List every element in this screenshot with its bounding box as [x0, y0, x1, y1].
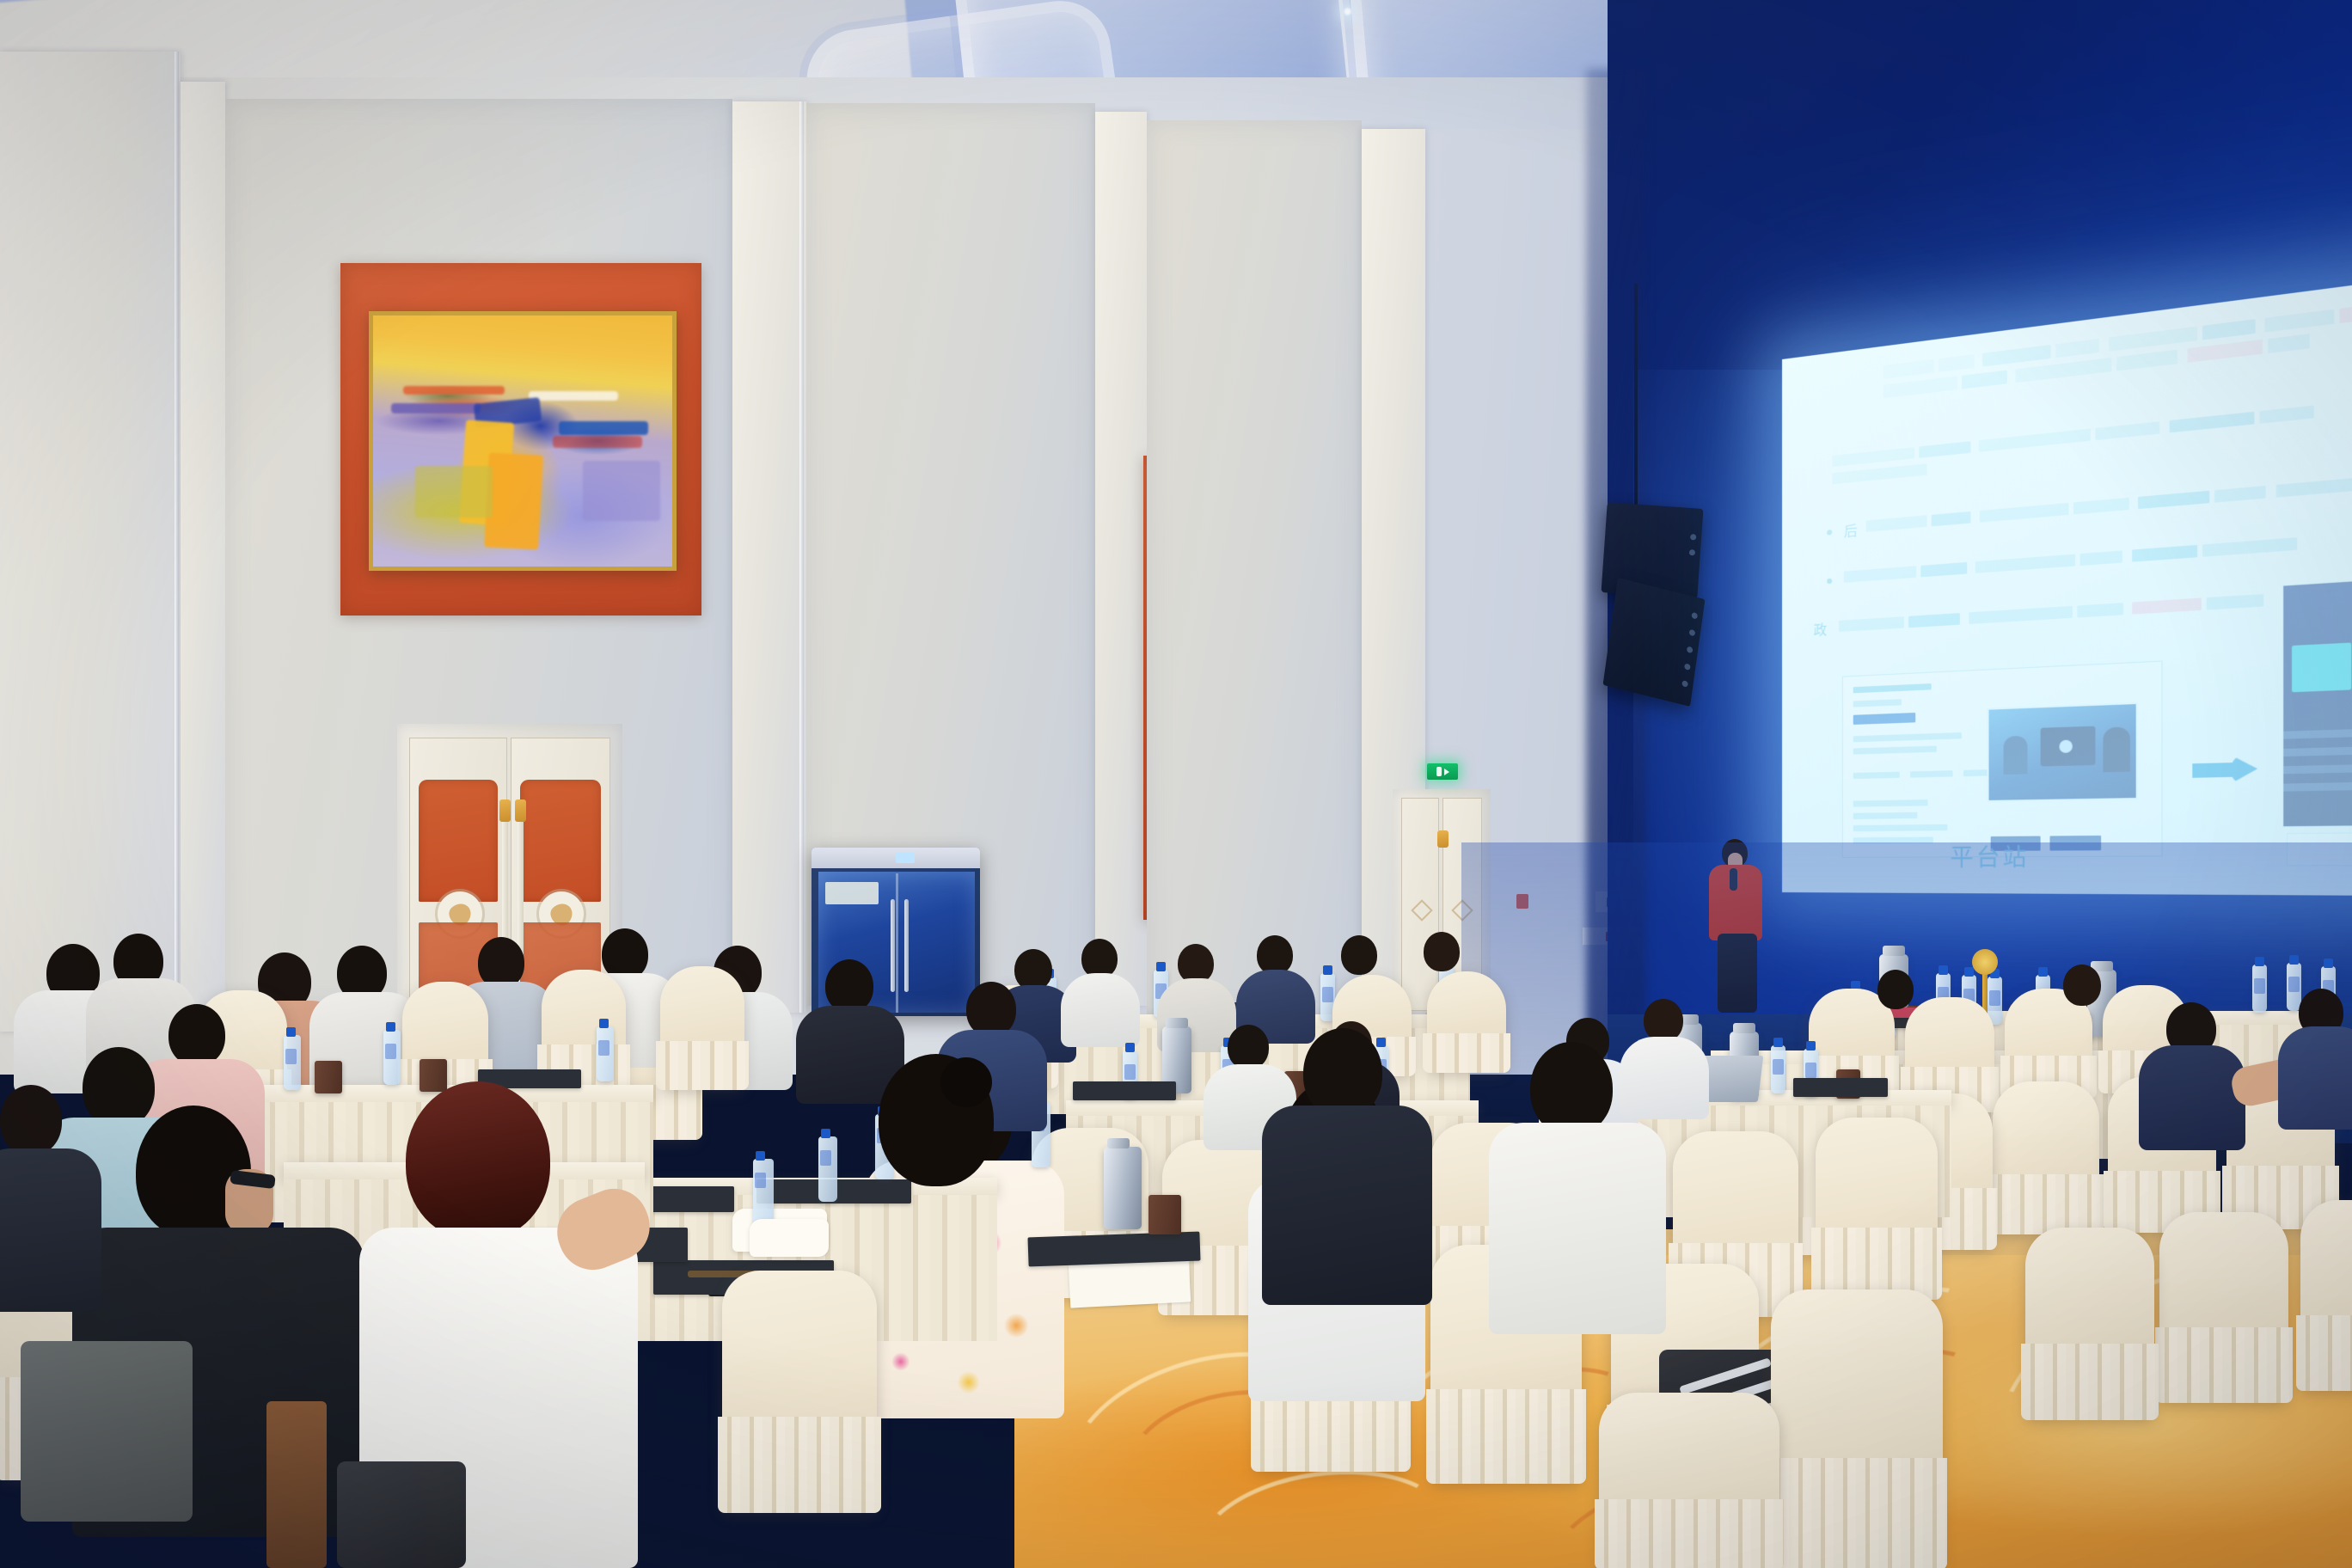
banquet-chair[interactable] [1427, 971, 1506, 1071]
placemat [1073, 1081, 1176, 1100]
attendee-head [1303, 1028, 1382, 1118]
attendee-body [1061, 973, 1140, 1047]
main-door-handle-left[interactable] [502, 818, 508, 956]
slide-bullet-2 [1844, 534, 2340, 587]
water-bottle [1771, 1045, 1785, 1093]
cooler-handle[interactable] [891, 899, 895, 992]
water-bottle [597, 1026, 614, 1081]
placemat [1793, 1078, 1888, 1097]
right-arrow-icon [2192, 754, 2257, 784]
ceiling-downlight [1343, 7, 1352, 16]
water-bottle [383, 1030, 401, 1085]
cooler-display [896, 853, 915, 863]
wall-recess-panel [1147, 120, 1362, 1014]
section-lead-text: 政 [1814, 618, 1828, 640]
attendee-head [1341, 935, 1377, 975]
napkin [750, 1219, 829, 1257]
slide-app-screenshot-footer [2287, 831, 2352, 866]
cooler-handle[interactable] [904, 899, 909, 992]
attendee-head [1530, 1042, 1613, 1135]
attendee-head [83, 1047, 155, 1128]
wall-pilaster [181, 82, 225, 1036]
attendee-head [0, 1085, 62, 1155]
projection-screen: 后 政 [1782, 272, 2352, 896]
card-list-line [1853, 799, 1928, 807]
attendee-body [1262, 1106, 1432, 1305]
bullet-lead-text: 后 [1844, 518, 1858, 541]
hair-bun [940, 1057, 992, 1107]
attendee-body [1489, 1123, 1666, 1334]
pilaster-edge [175, 52, 179, 1032]
presentation-slide: 后 政 [1782, 272, 2352, 896]
slide-bullet-1: 后 [1844, 475, 2352, 539]
attendee-head [1014, 949, 1052, 990]
banquet-chair[interactable] [1816, 1118, 1938, 1298]
handout-paper [1069, 1259, 1191, 1308]
exit-arrow-icon [1444, 769, 1449, 775]
card-detail-line [1853, 732, 1962, 742]
door-panel-plate [419, 780, 498, 902]
attendee-head-foreground [406, 1081, 550, 1240]
banquet-chair[interactable] [1599, 1393, 1779, 1568]
attendee-head [1644, 999, 1683, 1042]
bullet-dot-icon [1827, 579, 1832, 584]
banquet-chair[interactable] [2300, 1200, 2352, 1389]
attendee-head [966, 982, 1016, 1037]
cooler-label [825, 882, 879, 904]
thermos-flask [1104, 1147, 1142, 1229]
attendee-head [1424, 932, 1460, 971]
painting-canvas-landscape [373, 315, 672, 567]
attendee-head [825, 959, 873, 1013]
banquet-chair[interactable] [2159, 1212, 2288, 1401]
painting-frame-landscape [369, 311, 677, 571]
card-action-button-secondary[interactable] [2050, 836, 2102, 851]
attendee-head [1877, 970, 1914, 1009]
card-stat-line [1853, 772, 1900, 779]
main-door-handle-cap [515, 799, 526, 822]
presenter-skirt [1718, 934, 1757, 1013]
slide-section-line: 政 [1814, 589, 2344, 639]
card-price-chip [1853, 713, 1915, 725]
wall-pilaster [0, 52, 181, 1032]
conference-hall-photo: 后 政 [0, 0, 2352, 1568]
water-bottle [2252, 965, 2267, 1013]
attendee-body [0, 1148, 101, 1312]
slide-caption-platform-station: 平台站 [1950, 839, 2029, 873]
speaker-suspension-cable [1634, 284, 1638, 512]
door-panel-plate [520, 780, 601, 902]
backpack [21, 1341, 193, 1522]
tea-mug [420, 1059, 447, 1092]
banquet-chair[interactable] [1993, 1081, 2099, 1233]
attendee-head [168, 1004, 225, 1066]
abstract-landscape-painting [373, 315, 672, 567]
card-photo-thumbnail [1987, 702, 2138, 802]
attendee-body [2278, 1026, 2352, 1130]
attendee-head [478, 937, 524, 989]
card-list-line [1853, 812, 1918, 819]
microphone [1730, 868, 1737, 891]
app-teal-tile [2292, 643, 2351, 693]
cooler-door-divider [896, 873, 898, 1013]
card-subtitle-redacted [1853, 699, 1902, 707]
pilaster-edge [799, 101, 804, 1013]
exit-running-man-icon [1436, 767, 1442, 776]
wall-pilaster [732, 101, 806, 1013]
bullet-dot-icon [1827, 530, 1832, 536]
slide-app-screenshot [2282, 573, 2352, 828]
wall-fire-alarm-plate [1516, 894, 1528, 909]
main-door-handle-cap [499, 799, 511, 822]
attendee-body [1620, 1037, 1709, 1119]
side-door-handle[interactable] [1437, 830, 1449, 848]
attendee-head [602, 928, 648, 980]
attendee-head [2063, 965, 2101, 1006]
tea-mug [315, 1061, 342, 1093]
water-bottle [818, 1136, 837, 1202]
water-bottle [284, 1035, 301, 1090]
water-bottle [2287, 963, 2301, 1011]
card-title-redacted [1853, 683, 1932, 693]
card-list-line [1853, 824, 1948, 831]
placemat [1027, 1232, 1200, 1267]
main-door-handle-right[interactable] [518, 818, 524, 956]
card-stat-line [1910, 770, 1952, 777]
exit-sign [1427, 763, 1458, 780]
line-array-speaker-lower [1602, 578, 1705, 707]
card-detail-line [1853, 746, 1937, 755]
attendee-body [2139, 1045, 2245, 1150]
bag [337, 1461, 466, 1568]
wall-pilaster [1095, 112, 1147, 1006]
card-list-line [1853, 837, 1933, 844]
wooden-chair[interactable] [266, 1401, 327, 1568]
banquet-chair[interactable] [1771, 1289, 1943, 1568]
slide-product-card [1842, 660, 2163, 857]
banquet-chair[interactable] [660, 966, 744, 1088]
tea-mug [1148, 1195, 1181, 1234]
slide-subtitle-redacted [1832, 395, 2352, 491]
banquet-chair[interactable] [2025, 1228, 2154, 1418]
banquet-chair[interactable] [722, 1271, 877, 1511]
attendee-head [1228, 1025, 1269, 1069]
